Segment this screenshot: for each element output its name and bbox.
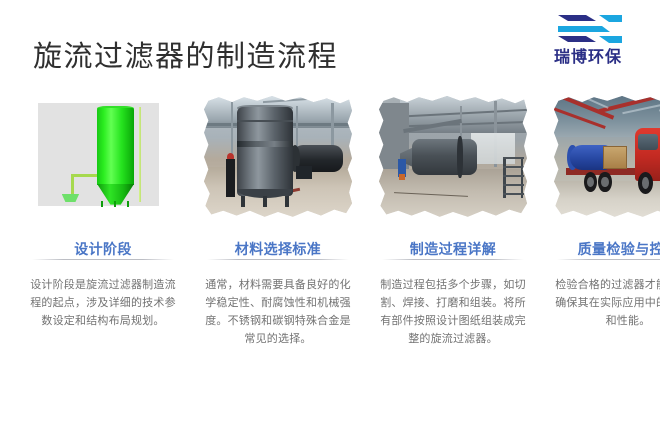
card-2-heading: 材料选择标准 [203,240,353,260]
page-title: 旋流过滤器的制造流程 [33,33,338,75]
card-3-title: 制造过程详解 [408,240,498,258]
card-3-heading: 制造过程详解 [378,240,528,260]
company-logo-icon [552,14,624,48]
card-1-title: 设计阶段 [72,240,134,258]
card-4-body: 检验合格的过滤器才能出厂，确保其在实际应用中的可靠性和性能。 [553,276,660,330]
brand-logo: 瑞博环保 [538,14,638,76]
card-1-underline [32,259,174,260]
card-4-heading: 质量检验与控制 [553,240,660,260]
card-2-title: 材料选择标准 [233,240,323,258]
card-3-body: 制造过程包括多个步骤，如切割、焊接、打磨和组装。将所有部件按照设计图纸组装成完整… [378,276,528,348]
card-2-underline [207,259,349,260]
process-card-row: 设计阶段 设计阶段是旋流过滤器制造流程的起点，涉及详细的技术参数设定和结构布局规… [0,96,660,348]
card-1-body: 设计阶段是旋流过滤器制造流程的起点，涉及详细的技术参数设定和结构布局规划。 [28,276,178,330]
card-4-image [554,96,660,218]
card-4-underline [557,259,660,260]
process-card-3[interactable]: 制造过程详解 制造过程包括多个步骤，如切割、焊接、打磨和组装。将所有部件按照设计… [378,96,528,348]
card-2-body: 通常，材料需要具备良好的化学稳定性、耐腐蚀性和机械强度。不锈钢和碳钢特殊合金是常… [203,276,353,348]
brand-name: 瑞博环保 [554,49,622,65]
card-3-underline [382,259,524,260]
card-1-heading: 设计阶段 [28,240,178,260]
process-card-2[interactable]: 材料选择标准 通常，材料需要具备良好的化学稳定性、耐腐蚀性和机械强度。不锈钢和碳… [203,96,353,348]
card-1-image [29,96,177,218]
slide-root: 旋流过滤器的制造流程 瑞博环保 [0,0,660,440]
card-2-image [204,96,352,218]
card-4-title: 质量检验与控制 [576,240,660,258]
card-3-image [379,96,527,218]
process-card-4[interactable]: 质量检验与控制 检验合格的过滤器才能出厂，确保其在实际应用中的可靠性和性能。 [553,96,660,348]
process-card-1[interactable]: 设计阶段 设计阶段是旋流过滤器制造流程的起点，涉及详细的技术参数设定和结构布局规… [28,96,178,348]
